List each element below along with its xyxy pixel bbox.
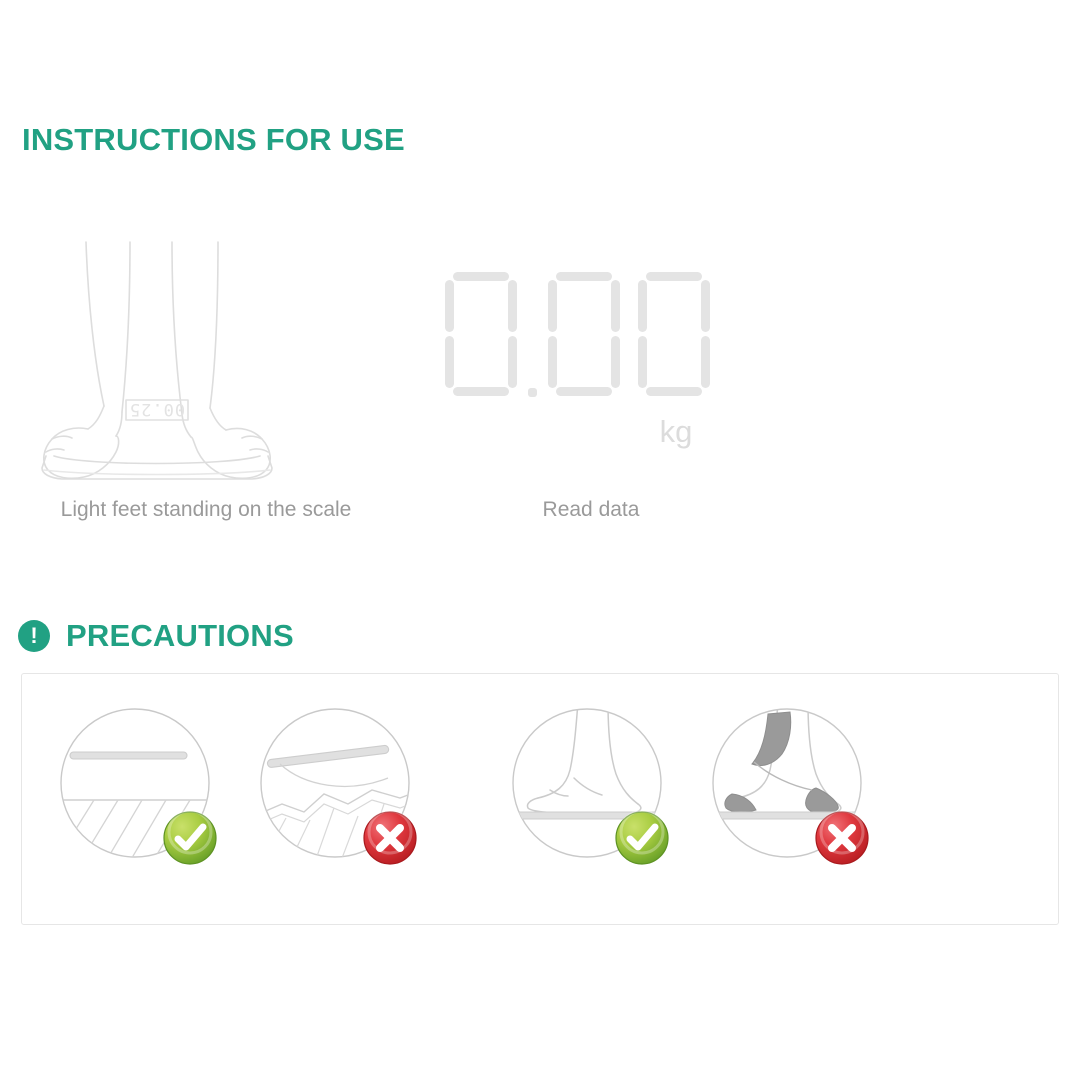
exclamation-glyph: !: [30, 625, 37, 647]
seven-segment-display: kg 0.00 kg: [411, 230, 771, 482]
precautions-heading-row: ! PRECAUTIONS: [18, 616, 294, 656]
cross-badge-icon: [364, 811, 416, 864]
svg-text:kg: kg: [660, 414, 693, 449]
cross-badge-icon: [816, 811, 868, 864]
instruction-step-caption: Read data: [411, 498, 771, 522]
precaution-item-hard-flat-floor: [52, 694, 252, 884]
display-value: 0.00: [411, 482, 412, 483]
display-unit: kg: [411, 482, 412, 483]
precaution-item-soft-uneven-floor: [252, 694, 452, 884]
page-title: INSTRUCTIONS FOR USE: [22, 122, 405, 158]
svg-text:00.25: 00.25: [129, 399, 185, 419]
precaution-item-sock-foot: [704, 694, 904, 884]
instruction-steps: 00.25 Light feet standing on the scale: [0, 230, 1080, 550]
precautions-title: PRECAUTIONS: [66, 618, 294, 654]
check-badge-icon: [616, 811, 668, 864]
instruction-step-read-data: kg 0.00 kg Read data: [411, 230, 771, 550]
instruction-step-light-feet: 00.25 Light feet standing on the scale: [26, 230, 386, 550]
precautions-panel: [21, 673, 1059, 925]
exclamation-circle-icon: !: [18, 620, 50, 652]
instruction-step-caption: Light feet standing on the scale: [26, 498, 386, 522]
precaution-item-bare-foot: [504, 694, 704, 884]
feet-on-scale-illustration: 00.25: [26, 230, 386, 482]
check-badge-icon: [164, 811, 216, 864]
